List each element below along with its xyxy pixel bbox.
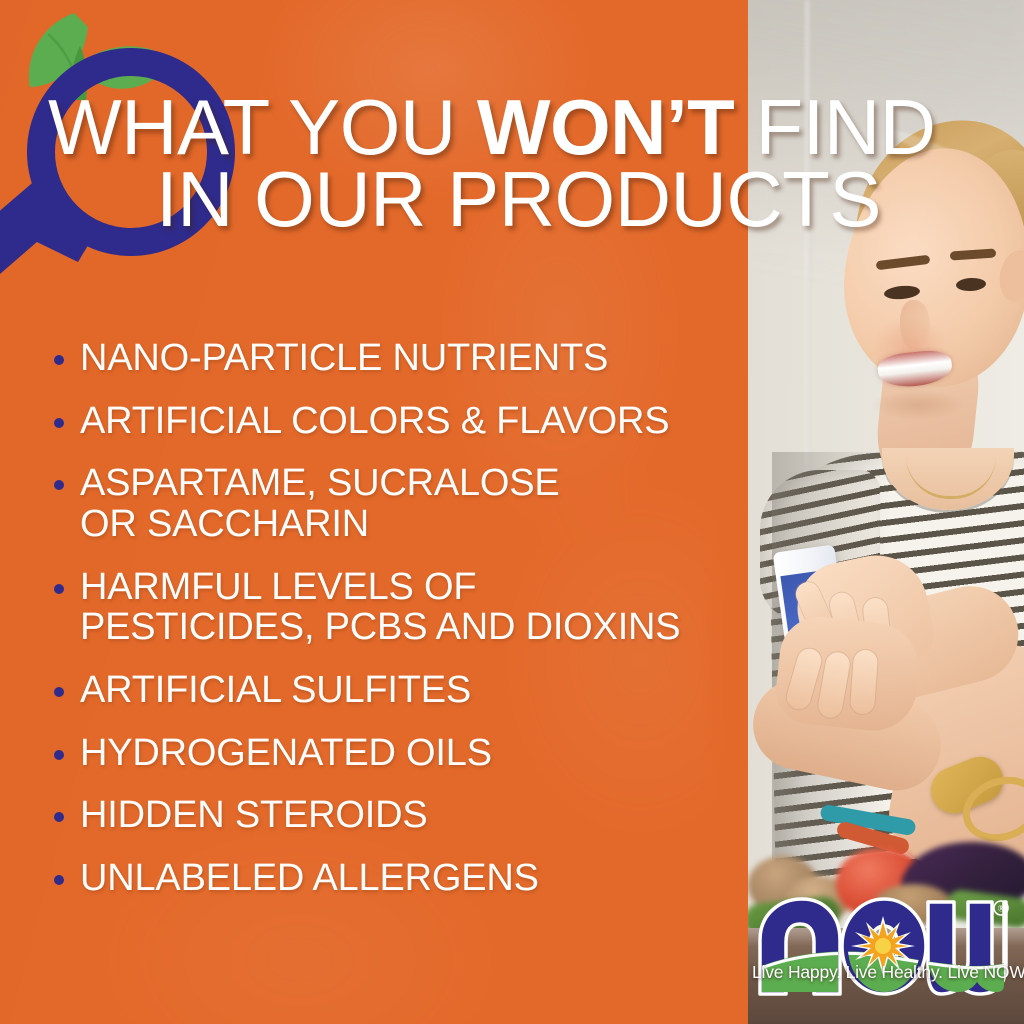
trademark-glyph: ® xyxy=(998,904,1005,914)
list-item-line-1: HARMFUL LEVELS OF xyxy=(80,566,476,608)
list-item-line-1: UNLABELED ALLERGENS xyxy=(80,857,539,899)
list-item-line-1: HIDDEN STEROIDS xyxy=(80,794,427,836)
list-item: ARTIFICIAL COLORS & FLAVORS xyxy=(46,401,746,442)
list-item: ARTIFICIAL SULFITES xyxy=(46,670,746,711)
list-item: ASPARTAME, SUCRALOSE OR SACCHARIN xyxy=(46,463,746,544)
brand-tagline: Live Happy. Live Healthy. Live NOW. xyxy=(752,962,1010,983)
list-item-line-1: ARTIFICIAL SULFITES xyxy=(80,669,471,711)
list-item-line-1: ARTIFICIAL COLORS & FLAVORS xyxy=(80,400,669,442)
list-item: HARMFUL LEVELS OF PESTICIDES, PCBS AND D… xyxy=(46,567,746,648)
list-item-line-1: HYDROGENATED OILS xyxy=(80,732,492,774)
nose xyxy=(900,300,930,350)
list-item-line-1: NANO-PARTICLE NUTRIENTS xyxy=(80,337,608,379)
promotional-graphic: WHAT YOU WON’T FIND IN OUR PRODUCTS NANO… xyxy=(0,0,1024,1024)
page-title: WHAT YOU WON’T FIND IN OUR PRODUCTS xyxy=(48,92,1008,236)
list-item-line-2: PESTICIDES, PCBS AND DIOXINS xyxy=(80,607,746,648)
list-item: HIDDEN STEROIDS xyxy=(46,795,746,836)
list-item: UNLABELED ALLERGENS xyxy=(46,858,746,899)
finger xyxy=(850,649,878,715)
list-item-line-1: ASPARTAME, SUCRALOSE xyxy=(80,462,560,504)
excluded-ingredients-list: NANO-PARTICLE NUTRIENTS ARTIFICIAL COLOR… xyxy=(46,338,746,921)
list-item-line-2: OR SACCHARIN xyxy=(80,504,746,545)
chin-shadow xyxy=(872,390,964,420)
list-item: HYDROGENATED OILS xyxy=(46,733,746,774)
list-item: NANO-PARTICLE NUTRIENTS xyxy=(46,338,746,379)
now-brand-logo: ® xyxy=(752,896,1010,1004)
headline-line-2: IN OUR PRODUCTS xyxy=(48,164,1008,236)
